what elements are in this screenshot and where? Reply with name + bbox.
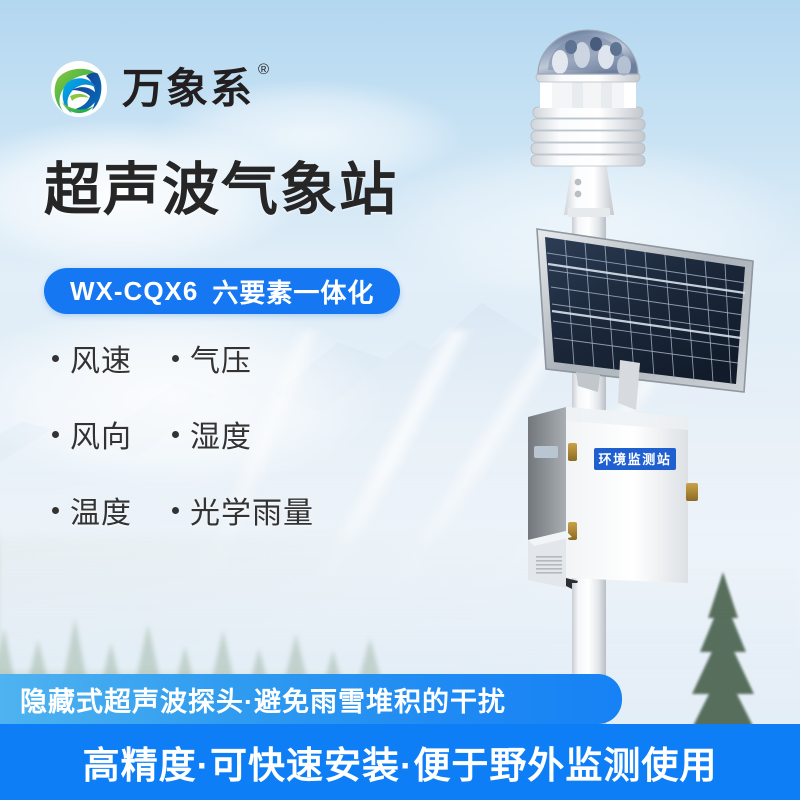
globe-swoosh-logo-icon [48, 58, 110, 120]
feature-label: 风向 [70, 412, 132, 456]
sub-banner-text: 隐藏式超声波探头·避免雨雪堆积的干扰 [0, 680, 506, 719]
bullet-icon [172, 431, 179, 438]
feature-item: 温度 [52, 488, 172, 532]
feature-row: 风速 气压 [52, 336, 314, 380]
model-number: WX-CQX6 [70, 276, 198, 307]
page-title: 超声波气象站 [44, 160, 398, 222]
sub-banner: 隐藏式超声波探头·避免雨雪堆积的干扰 [0, 674, 622, 724]
feature-row: 风向 湿度 [52, 412, 314, 456]
feature-item: 风速 [52, 336, 172, 380]
feature-label: 气压 [190, 336, 252, 380]
feature-label: 风速 [70, 336, 132, 380]
feature-row: 温度 光学雨量 [52, 488, 314, 532]
feature-item: 光学雨量 [172, 488, 314, 532]
bullet-icon [52, 355, 59, 362]
feature-list: 风速 气压 风向 湿度 温度 光学雨量 [52, 336, 314, 532]
feature-item: 湿度 [172, 412, 252, 456]
brand-name-text: 万象系 [122, 65, 254, 112]
bullet-icon [172, 507, 179, 514]
brand-logo: 万象系 ® [48, 58, 254, 120]
registered-trademark-icon: ® [258, 62, 271, 77]
bullet-icon [172, 355, 179, 362]
model-badge: WX-CQX6 六要素一体化 [44, 268, 400, 314]
main-banner-text: 高精度·可快速安装·便于野外监测使用 [83, 735, 718, 789]
model-tagline: 六要素一体化 [212, 273, 374, 310]
feature-label: 湿度 [190, 412, 252, 456]
brand-name: 万象系 ® [122, 68, 254, 110]
bullet-icon [52, 507, 59, 514]
bullet-icon [52, 431, 59, 438]
feature-item: 风向 [52, 412, 172, 456]
feature-label: 温度 [70, 488, 132, 532]
product-banner: 环境监测站 [0, 0, 800, 800]
feature-label: 光学雨量 [190, 488, 314, 532]
feature-item: 气压 [172, 336, 252, 380]
main-banner: 高精度·可快速安装·便于野外监测使用 [0, 724, 800, 800]
